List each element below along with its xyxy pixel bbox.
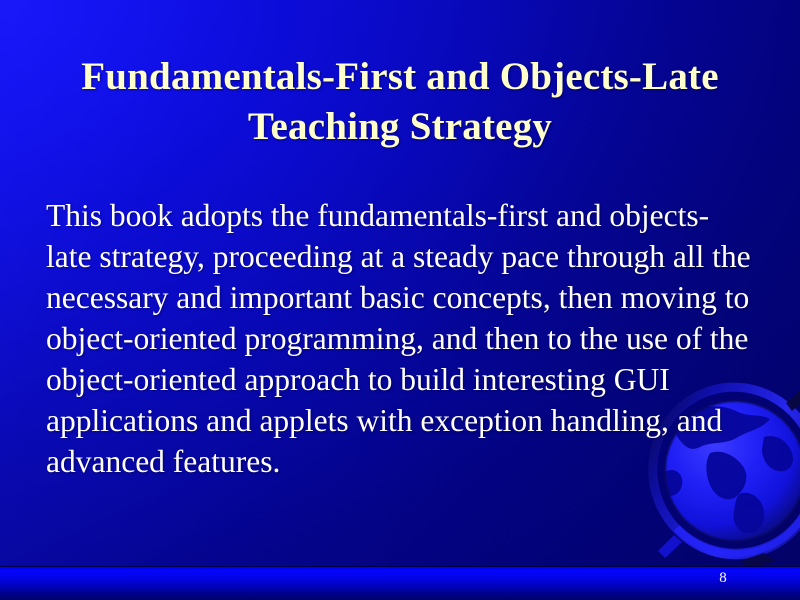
slide-body-text: This book adopts the fundamentals-first …: [46, 195, 752, 482]
slide-title: Fundamentals-First and Objects-Late Teac…: [24, 52, 776, 152]
footer-accent-band: [0, 567, 800, 600]
presentation-slide: Fundamentals-First and Objects-Late Teac…: [0, 0, 800, 600]
page-number: 8: [700, 568, 746, 588]
footer-band-divider: [0, 566, 800, 567]
